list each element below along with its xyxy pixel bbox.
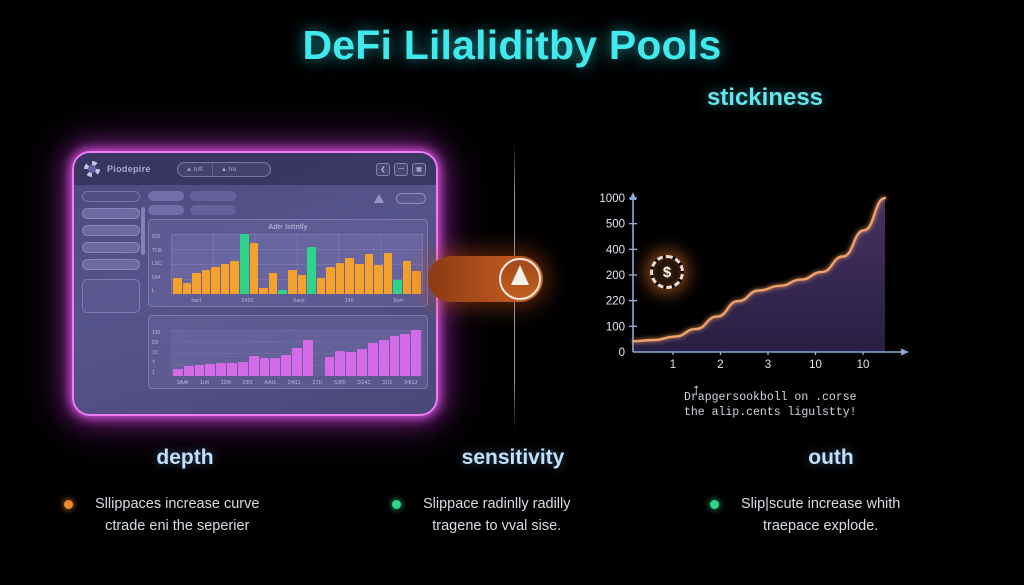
x-tick: 3AAl bbox=[177, 380, 189, 386]
bar bbox=[211, 267, 220, 294]
x-tick-label: 10 bbox=[857, 359, 870, 371]
legend-dot bbox=[64, 500, 73, 509]
sidebar-panel-block bbox=[82, 279, 140, 313]
slide-canvas: DeFi Lilaliditby Pools stickiness Piodep… bbox=[0, 0, 1024, 585]
tab-tre[interactable]: tre bbox=[213, 163, 271, 176]
y-tick: 1 bbox=[152, 370, 160, 376]
bar bbox=[259, 288, 268, 294]
x-tick: 8ort bbox=[394, 298, 403, 304]
bar bbox=[403, 261, 412, 294]
bar bbox=[216, 363, 226, 376]
bar bbox=[400, 334, 410, 376]
bar bbox=[238, 362, 248, 376]
view-toggle[interactable] bbox=[396, 193, 426, 204]
y-tick-label: 0 bbox=[619, 347, 625, 359]
y-axis-arrow-icon bbox=[630, 192, 637, 200]
bar bbox=[326, 267, 335, 294]
bar bbox=[269, 273, 278, 294]
highlight-pill[interactable] bbox=[428, 256, 543, 302]
x-tick: 3act bbox=[191, 298, 201, 304]
bar bbox=[240, 234, 249, 294]
legend-column-sensitivity: sensitivity Slippace radinlly radilly tr… bbox=[348, 446, 678, 537]
legend-text: Slip|scute increase whith traepace explo… bbox=[741, 493, 900, 537]
alert-bell-icon[interactable] bbox=[374, 194, 384, 203]
bar bbox=[317, 278, 326, 294]
filter-chip-3[interactable] bbox=[148, 205, 184, 215]
y-tick: IDS bbox=[152, 234, 162, 240]
sidebar-item-tind[interactable] bbox=[82, 191, 140, 202]
y-tick-label: 200 bbox=[606, 270, 625, 282]
legend-title: outh bbox=[666, 446, 996, 470]
area-chart-panel: 120D013?1 3AAl1ntt11ñt23l1AAt124l112J1l5… bbox=[148, 315, 428, 389]
legend-text: Slippace radinlly radilly tragene to vva… bbox=[423, 493, 571, 537]
dashboard-sidebar bbox=[82, 191, 140, 406]
dashboard-header: Piodepire toft tre ❮ ⎯⎯ ▦ bbox=[74, 153, 436, 185]
triangle-icon bbox=[187, 167, 191, 171]
document-icon[interactable]: ▦ bbox=[412, 163, 426, 176]
legend-text-line2: traepace explode. bbox=[741, 515, 900, 537]
x-axis-arrow-icon bbox=[901, 349, 909, 356]
bar bbox=[298, 275, 307, 294]
legend-text-line1: Slip|scute increase whith bbox=[741, 496, 900, 512]
page-subtitle: stickiness bbox=[600, 84, 930, 112]
legend-bullet: Sllippaces increase curve ctrade eni the… bbox=[20, 493, 350, 537]
y-tick: D0 bbox=[152, 340, 160, 346]
app-logo-icon bbox=[84, 161, 100, 177]
bar bbox=[411, 330, 421, 376]
bar bbox=[173, 369, 183, 376]
x-tick: 11ñt bbox=[221, 380, 231, 386]
bar bbox=[260, 358, 270, 376]
sidebar-scrollbar[interactable] bbox=[141, 207, 145, 255]
bar bbox=[346, 352, 356, 376]
sidebar-item-4[interactable] bbox=[82, 242, 140, 253]
slippage-line-chart: 10005004002002201000 1231010 bbox=[578, 186, 913, 381]
legend-text-line1: Sllippaces increase curve bbox=[95, 496, 259, 512]
y-tick-label: 100 bbox=[606, 321, 625, 333]
dollar-refresh-icon: $ bbox=[650, 255, 684, 289]
x-tick: 34l1J bbox=[404, 380, 417, 386]
y-tick: 120 bbox=[152, 330, 160, 336]
bar bbox=[173, 278, 182, 294]
area-chart-x-axis: 3AAl1ntt11ñt23l1AAt124l112J1l53l0l2G4131… bbox=[171, 377, 423, 388]
bar bbox=[278, 290, 287, 294]
legend-column-depth: depth Sllippaces increase curve ctrade e… bbox=[20, 446, 350, 537]
bar bbox=[288, 270, 297, 294]
tab-label: tre bbox=[229, 166, 237, 173]
link-icon[interactable]: ⎯⎯ bbox=[394, 163, 408, 176]
header-icon-group: ❮ ⎯⎯ ▦ bbox=[376, 163, 426, 176]
bar bbox=[230, 261, 239, 294]
dashboard-panel: Piodepire toft tre ❮ ⎯⎯ ▦ bbox=[72, 151, 438, 416]
x-tick: 1ntt bbox=[200, 380, 209, 386]
bar bbox=[303, 340, 313, 376]
y-tick-label: 1000 bbox=[599, 193, 625, 205]
tab-toft[interactable]: toft bbox=[178, 163, 213, 176]
filter-chip-4[interactable] bbox=[190, 205, 236, 215]
bar bbox=[393, 280, 402, 294]
x-tick-label: 1 bbox=[670, 359, 676, 371]
x-tick: 2G41 bbox=[357, 380, 370, 386]
bar bbox=[183, 283, 192, 294]
play-triangle-icon[interactable] bbox=[499, 258, 541, 300]
bar bbox=[281, 355, 291, 376]
bar bbox=[357, 349, 367, 376]
legend-text-line2: ctrade eni the seperier bbox=[95, 515, 259, 537]
bar-chart-y-axis: IDSTO9LSC544L bbox=[152, 234, 162, 294]
page-title: DeFi Lilaliditby Pools bbox=[0, 22, 1024, 69]
x-tick: 140 bbox=[345, 298, 354, 304]
filter-chip-row-2 bbox=[148, 205, 428, 215]
filter-chip-1[interactable] bbox=[148, 191, 184, 201]
bar bbox=[192, 273, 201, 294]
legend-text-line2: tragene to vval sise. bbox=[423, 515, 571, 537]
bar-chart-title: Adtr lsttnlly bbox=[149, 222, 427, 231]
legend-title: sensitivity bbox=[348, 446, 678, 470]
dashboard-main: Adtr lsttnlly IDSTO9LSC544L 3act24105ack… bbox=[148, 191, 428, 406]
tab-label: toft bbox=[194, 166, 203, 173]
x-tick-label: 2 bbox=[717, 359, 723, 371]
sidebar-item-3[interactable] bbox=[82, 225, 140, 236]
legend-bullet: Slip|scute increase whith traepace explo… bbox=[666, 493, 996, 537]
area-chart-y-axis: 120D013?1 bbox=[152, 330, 160, 376]
app-logo-label: Piodepire bbox=[107, 164, 151, 174]
legend-text-line1: Slippace radinlly radilly bbox=[423, 496, 571, 512]
bar bbox=[221, 264, 230, 294]
x-tick-label: 10 bbox=[809, 359, 822, 371]
bar bbox=[195, 365, 205, 376]
legend-title: depth bbox=[20, 446, 350, 470]
bar bbox=[270, 358, 280, 376]
bar-chart-x-axis: 3act24105ack1408ort bbox=[171, 295, 423, 306]
bar bbox=[336, 263, 345, 294]
x-tick: AAt1 bbox=[264, 380, 276, 386]
dashboard-tabs[interactable]: toft tre bbox=[177, 162, 272, 177]
bar bbox=[368, 343, 378, 376]
y-tick-label: 500 bbox=[606, 219, 625, 231]
sidebar-item-2[interactable] bbox=[82, 208, 140, 219]
x-tick-label: 3 bbox=[765, 359, 771, 371]
y-tick: L bbox=[152, 288, 162, 294]
bar bbox=[250, 243, 259, 294]
filter-chip-row bbox=[148, 191, 428, 201]
y-tick-label: 400 bbox=[606, 244, 625, 256]
bar bbox=[335, 351, 345, 376]
bar bbox=[384, 253, 393, 294]
line-chart-svg: 10005004002002201000 1231010 bbox=[578, 186, 913, 381]
triangle-icon bbox=[222, 167, 226, 171]
y-tick: TO9 bbox=[152, 248, 162, 254]
bar bbox=[202, 270, 211, 294]
y-tick: LSC bbox=[152, 261, 162, 267]
line-chart-y-ticks: 10005004002002201000 bbox=[599, 193, 637, 359]
legend-bullet: Slippace radinlly radilly tragene to vva… bbox=[348, 493, 678, 537]
bar bbox=[184, 366, 194, 376]
bar bbox=[390, 336, 400, 376]
line-chart-caption: Drapgersookboll on .corse the alip.cents… bbox=[684, 390, 924, 420]
bar-chart-plot bbox=[171, 234, 423, 294]
caption-line-2: the alip.cents ligulstty! bbox=[684, 405, 924, 420]
bar bbox=[205, 364, 215, 376]
x-tick: 23l1 bbox=[242, 380, 252, 386]
y-tick-label: 220 bbox=[606, 296, 625, 308]
bar bbox=[227, 363, 237, 376]
bar bbox=[374, 265, 383, 294]
legend-dot bbox=[710, 500, 719, 509]
legend-dot bbox=[392, 500, 401, 509]
x-tick: 24l11 bbox=[288, 380, 301, 386]
bar bbox=[292, 348, 302, 376]
legend-column-outh: outh Slip|scute increase whith traepace … bbox=[666, 446, 996, 537]
bar bbox=[379, 340, 389, 376]
y-tick: ? bbox=[152, 360, 160, 366]
bar bbox=[365, 254, 374, 294]
x-tick: 2J1l bbox=[312, 380, 322, 386]
x-tick: 31l1 bbox=[382, 380, 392, 386]
x-tick: 2410 bbox=[241, 298, 253, 304]
bar bbox=[249, 356, 259, 376]
share-icon[interactable]: ❮ bbox=[376, 163, 390, 176]
y-tick: 13 bbox=[152, 350, 160, 356]
x-tick: 53l0l bbox=[334, 380, 346, 386]
filter-chip-2[interactable] bbox=[190, 191, 236, 201]
x-tick: 5ack bbox=[293, 298, 305, 304]
bar bbox=[307, 247, 316, 294]
bar bbox=[325, 357, 335, 376]
area-chart-plot bbox=[171, 330, 423, 376]
sidebar-item-5[interactable] bbox=[82, 259, 140, 270]
y-tick: 544 bbox=[152, 275, 162, 281]
bar bbox=[355, 264, 364, 294]
bar bbox=[345, 258, 354, 294]
bar-chart-panel: Adtr lsttnlly IDSTO9LSC544L 3act24105ack… bbox=[148, 219, 428, 307]
legend-text: Sllippaces increase curve ctrade eni the… bbox=[95, 493, 259, 537]
bar bbox=[412, 271, 421, 294]
caption-line-1: Drapgersookboll on .corse bbox=[684, 390, 924, 405]
